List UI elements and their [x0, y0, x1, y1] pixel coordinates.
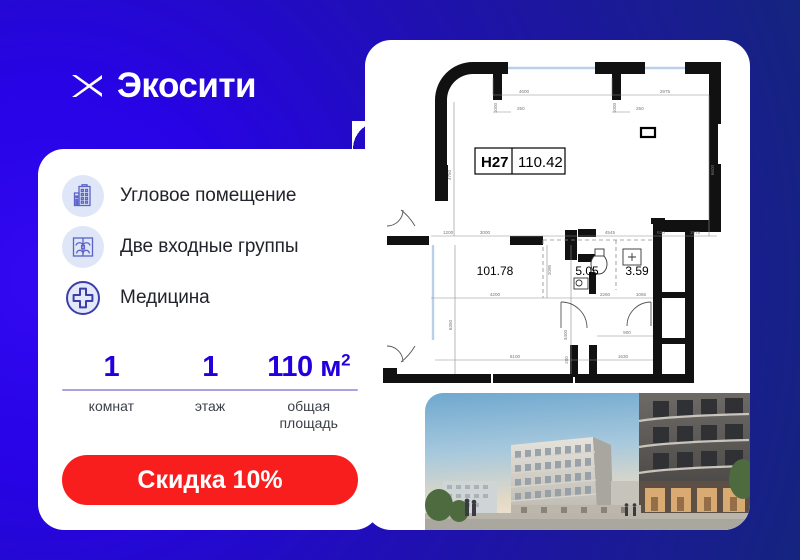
svg-text:1065: 1065 — [636, 292, 647, 297]
svg-text:900: 900 — [623, 330, 631, 335]
medical-cross-icon — [62, 277, 104, 319]
stats-block: 1 1 110 м2 комнат этаж общая площадь — [62, 351, 358, 432]
stat-label: этаж — [161, 398, 260, 415]
feature-item: Угловое помещение — [62, 175, 362, 217]
svg-text:1000: 1000 — [493, 102, 498, 113]
brand-name: Экосити — [117, 68, 256, 103]
svg-text:1200: 1200 — [443, 230, 454, 235]
stats-divider — [62, 389, 358, 391]
svg-text:4200: 4200 — [490, 292, 501, 297]
svg-text:1975: 1975 — [690, 230, 701, 235]
svg-text:1000: 1000 — [612, 102, 617, 113]
stat-label: комнат — [62, 398, 161, 415]
feature-label: Угловое помещение — [120, 185, 296, 207]
stat-value: 1 — [62, 351, 161, 383]
promo-banner: Экосити — [0, 0, 800, 560]
feature-list: Угловое помещение — [62, 175, 362, 328]
stats-labels-row: комнат этаж общая площадь — [62, 398, 358, 432]
floorplan: H27 110.42 101.78 5.05 3.59 4600 2975 10… — [365, 40, 750, 395]
svg-text:3000: 3000 — [480, 230, 491, 235]
svg-text:6600: 6600 — [710, 164, 715, 175]
svg-text:4545: 4545 — [605, 230, 616, 235]
svg-text:610: 610 — [657, 230, 665, 235]
stat-label: общая площадь — [259, 398, 358, 432]
stat-value: 1 — [161, 351, 260, 383]
svg-text:200: 200 — [564, 356, 569, 364]
svg-text:4600: 4600 — [519, 89, 530, 94]
svg-text:2260: 2260 — [600, 292, 611, 297]
svg-text:3.59: 3.59 — [625, 264, 649, 278]
svg-text:110.42: 110.42 — [518, 154, 563, 171]
svg-text:2975: 2975 — [660, 89, 671, 94]
brand-panel: Экосити — [0, 0, 392, 165]
info-card: Угловое помещение — [38, 149, 380, 530]
feature-item: Две входные группы — [62, 226, 362, 268]
double-doors-icon — [62, 226, 104, 268]
svg-text:5.05: 5.05 — [575, 264, 599, 278]
brand-logo: Экосити — [70, 68, 256, 103]
stats-values-row: 1 1 110 м2 — [62, 351, 358, 383]
svg-text:250: 250 — [636, 106, 644, 111]
building-icon — [62, 175, 104, 217]
stat-value: 110 м2 — [259, 351, 358, 383]
svg-text:6100: 6100 — [510, 354, 521, 359]
feature-item: Медицина — [62, 277, 362, 319]
svg-text:1630: 1630 — [618, 354, 629, 359]
discount-button[interactable]: Скидка 10% — [62, 455, 358, 505]
x-mark-logo-icon — [70, 69, 104, 103]
feature-label: Медицина — [120, 287, 210, 309]
svg-text:250: 250 — [517, 106, 525, 111]
svg-text:H27: H27 — [481, 154, 509, 171]
feature-label: Две входные группы — [120, 236, 298, 258]
building-render-photo — [425, 393, 750, 530]
svg-text:2095: 2095 — [547, 264, 552, 275]
svg-text:3400: 3400 — [563, 329, 568, 340]
svg-text:4750: 4750 — [447, 169, 452, 180]
svg-text:101.78: 101.78 — [477, 264, 514, 278]
svg-text:6350: 6350 — [448, 319, 453, 330]
plan-card: H27 110.42 101.78 5.05 3.59 4600 2975 10… — [365, 40, 750, 530]
